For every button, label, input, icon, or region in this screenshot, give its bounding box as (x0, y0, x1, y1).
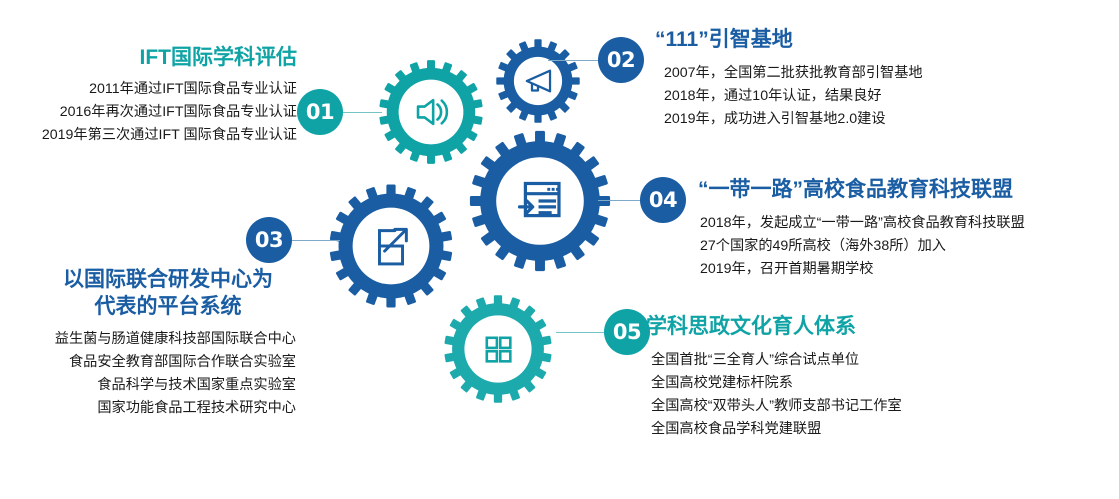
list-item: 全国高校食品学科党建联盟 (651, 418, 1096, 441)
badge-01[interactable]: 01 (297, 89, 343, 135)
list-item: 2011年通过IFT国际食品专业认证 (0, 78, 297, 101)
list-item: 国家功能食品工程技术研究中心 (0, 397, 296, 420)
list-item: 2018年，通过10年认证，结果良好 (664, 85, 1115, 108)
list-item: 2018年，发起成立“一带一路”高校食品教育科技联盟 (700, 212, 1118, 235)
section-03-items: 益生菌与肠道健康科技部国际联合中心 食品安全教育部国际合作联合实验室 食品科学与… (0, 328, 296, 420)
section-03: 以国际联合研发中心为 代表的平台系统 益生菌与肠道健康科技部国际联合中心 食品安… (0, 266, 296, 420)
gear-04 (467, 128, 613, 274)
badge-03[interactable]: 03 (246, 217, 292, 263)
section-05-items: 全国首批“三全育人”综合试点单位 全国高校党建标杆院系 全国高校“双带头人”教师… (646, 349, 1096, 441)
list-item: 2007年，全国第二批获批教育部引智基地 (664, 62, 1115, 85)
gear-shape-blue-03 (327, 182, 455, 310)
gear-02 (495, 38, 581, 124)
connector-01 (340, 112, 382, 113)
section-05: 学科思政文化育人体系 全国首批“三全育人”综合试点单位 全国高校党建标杆院系 全… (646, 313, 1096, 441)
section-02-heading: “111”引智基地 (655, 26, 1115, 53)
badge-05[interactable]: 05 (604, 309, 650, 355)
section-02-items: 2007年，全国第二批获批教育部引智基地 2018年，通过10年认证，结果良好 … (655, 62, 1115, 131)
connector-03 (292, 240, 340, 241)
section-04: “一带一路”高校食品教育科技联盟 2018年，发起成立“一带一路”高校食品教育科… (698, 176, 1118, 281)
section-04-items: 2018年，发起成立“一带一路”高校食品教育科技联盟 27个国家的49所高校（海… (698, 212, 1118, 281)
infographic-canvas: 01 02 03 04 05 IFT国际学科评估 2011年通过IFT国际食品专… (0, 0, 1119, 499)
list-item: 2019年，召开首期暑期学校 (700, 258, 1118, 281)
gear-05 (442, 293, 554, 405)
section-01-heading: IFT国际学科评估 (0, 44, 297, 71)
list-item: 全国高校党建标杆院系 (651, 372, 1096, 395)
gear-shape-blue-04 (467, 128, 613, 274)
section-03-heading: 以国际联合研发中心为 代表的平台系统 (0, 266, 296, 320)
gear-shape-teal-05 (442, 293, 554, 405)
section-01: IFT国际学科评估 2011年通过IFT国际食品专业认证 2016年再次通过IF… (0, 44, 297, 147)
list-item: 2019年第三次通过IFT 国际食品专业认证 (0, 124, 297, 147)
badge-04[interactable]: 04 (640, 177, 686, 223)
gear-03 (327, 182, 455, 310)
connector-05 (556, 332, 604, 333)
list-item: 全国首批“三全育人”综合试点单位 (651, 349, 1096, 372)
section-02: “111”引智基地 2007年，全国第二批获批教育部引智基地 2018年，通过1… (655, 26, 1115, 131)
section-01-items: 2011年通过IFT国际食品专业认证 2016年再次通过IFT国际食品专业认证 … (0, 78, 297, 147)
list-item: 益生菌与肠道健康科技部国际联合中心 (0, 328, 296, 351)
list-item: 27个国家的49所高校（海外38所）加入 (700, 235, 1118, 258)
list-item: 食品科学与技术国家重点实验室 (0, 374, 296, 397)
list-item: 2019年，成功进入引智基地2.0建设 (664, 108, 1115, 131)
gear-shape-blue-02 (495, 38, 581, 124)
list-item: 全国高校“双带头人”教师支部书记工作室 (651, 395, 1096, 418)
section-05-heading: 学科思政文化育人体系 (646, 313, 1096, 340)
list-item: 食品安全教育部国际合作联合实验室 (0, 351, 296, 374)
badge-02[interactable]: 02 (598, 37, 644, 83)
section-04-heading: “一带一路”高校食品教育科技联盟 (698, 176, 1118, 203)
connector-02 (548, 60, 598, 61)
list-item: 2016年再次通过IFT国际食品专业认证 (0, 101, 297, 124)
